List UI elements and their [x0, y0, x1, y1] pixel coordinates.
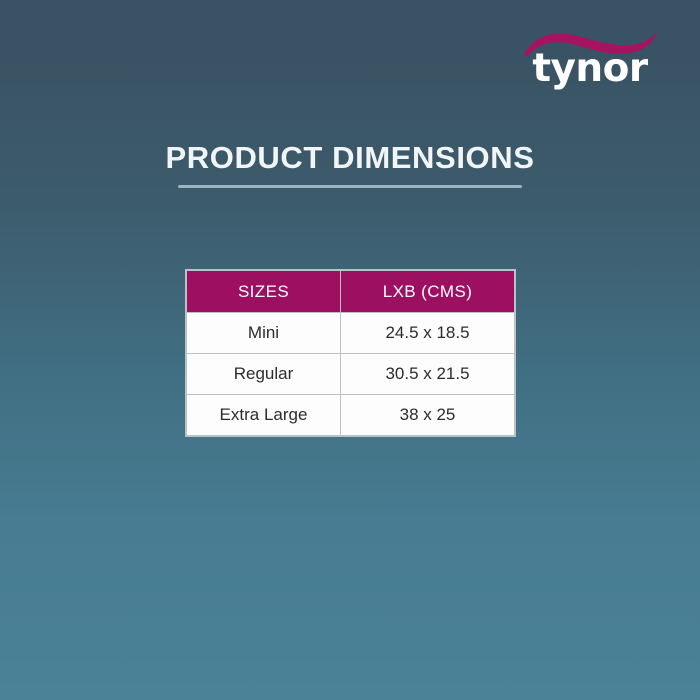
table-header-row: SIZES LXB (CMS) [187, 271, 515, 313]
product-dimensions-graphic: tynor PRODUCT DIMENSIONS SIZES LXB (CMS)… [0, 0, 700, 700]
table-row: Extra Large 38 x 25 [187, 395, 515, 436]
page-title: PRODUCT DIMENSIONS [0, 140, 700, 176]
dimensions-table-container: SIZES LXB (CMS) Mini 24.5 x 18.5 Regular… [186, 270, 514, 436]
title-underline [178, 185, 522, 188]
dimensions-table: SIZES LXB (CMS) Mini 24.5 x 18.5 Regular… [186, 270, 515, 436]
cell-size: Extra Large [187, 395, 341, 436]
logo-wordmark: tynor [520, 49, 660, 88]
cell-size: Mini [187, 313, 341, 354]
cell-lxb: 38 x 25 [341, 395, 515, 436]
table-row: Mini 24.5 x 18.5 [187, 313, 515, 354]
cell-lxb: 24.5 x 18.5 [341, 313, 515, 354]
column-header-lxb: LXB (CMS) [341, 271, 515, 313]
cell-size: Regular [187, 354, 341, 395]
tynor-logo: tynor [520, 26, 660, 96]
column-header-sizes: SIZES [187, 271, 341, 313]
cell-lxb: 30.5 x 21.5 [341, 354, 515, 395]
title-block: PRODUCT DIMENSIONS [0, 140, 700, 188]
table-row: Regular 30.5 x 21.5 [187, 354, 515, 395]
